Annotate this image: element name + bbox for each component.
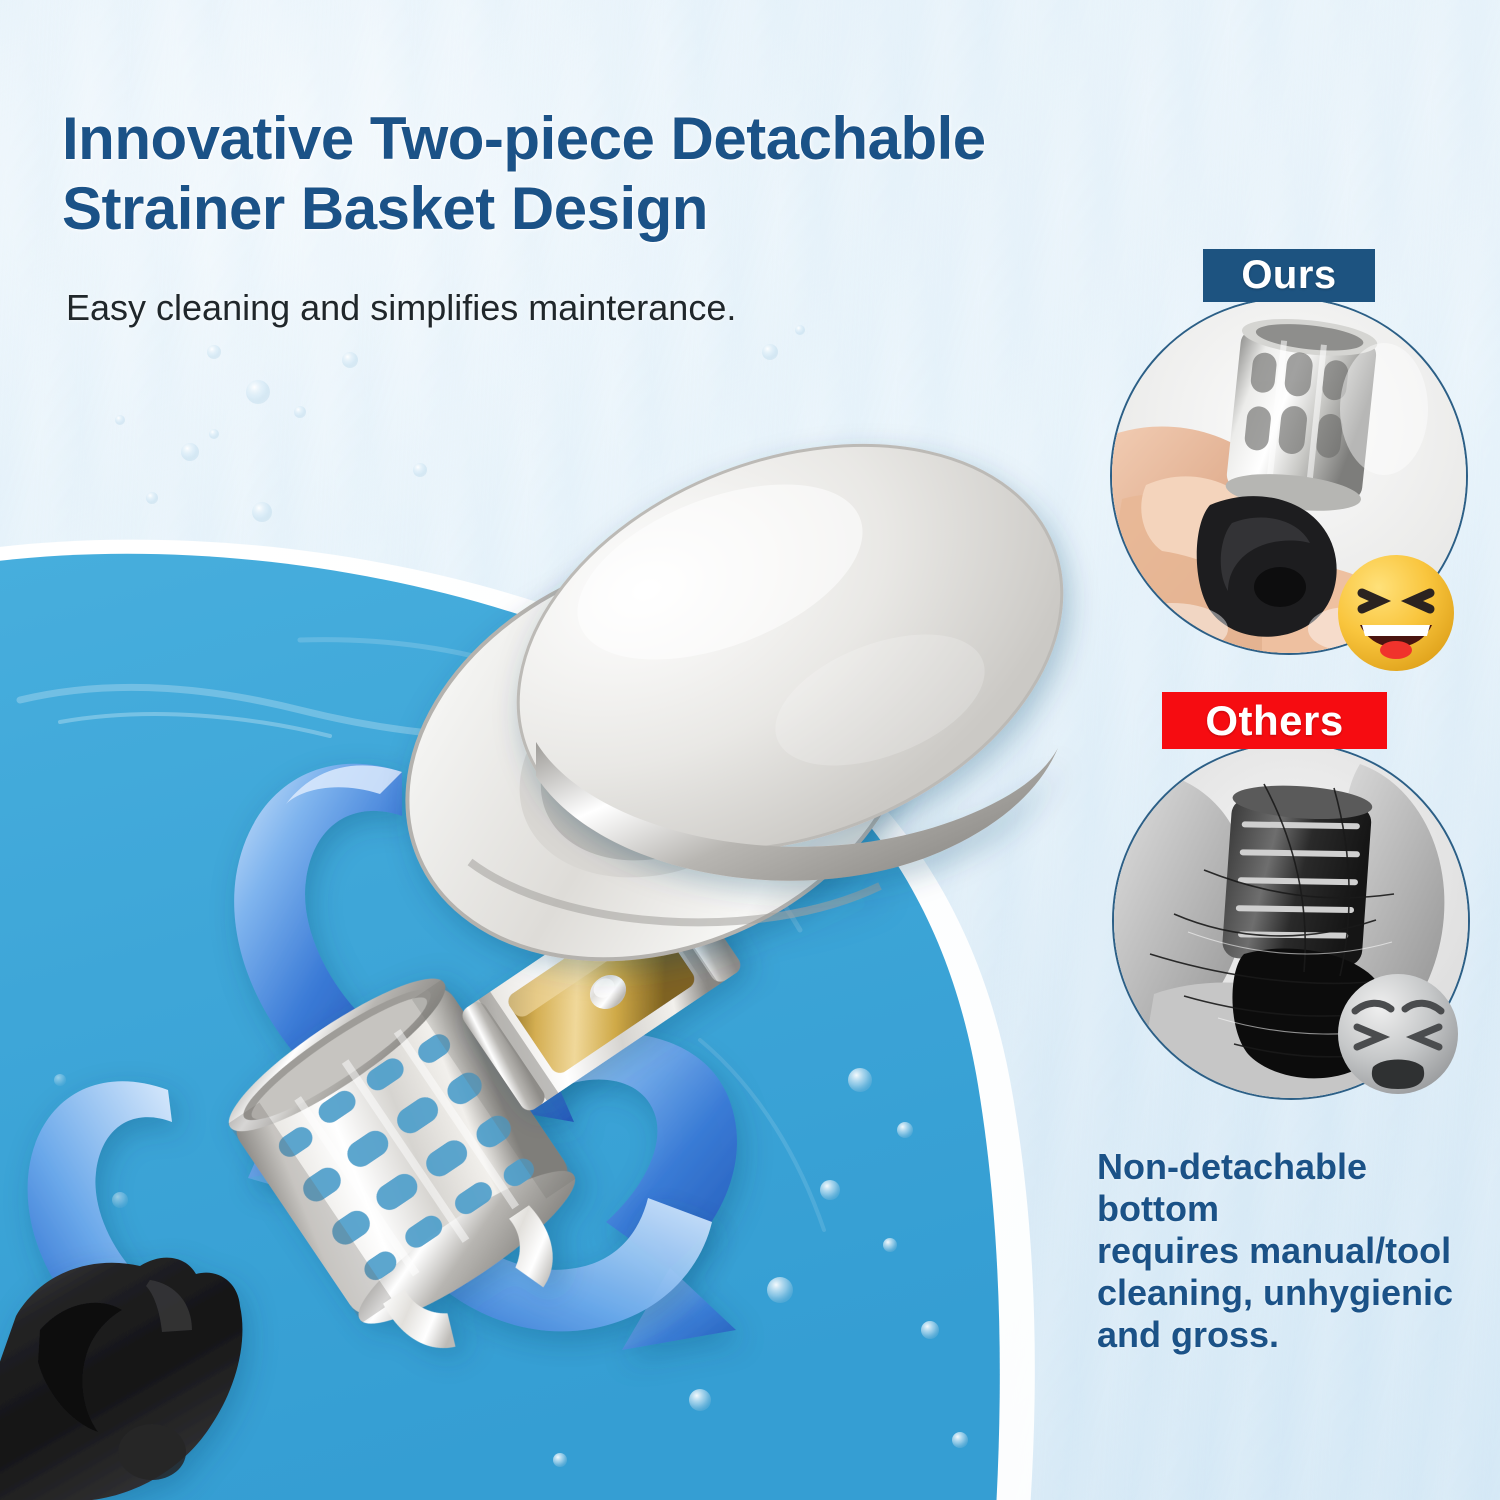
others-caption-line-3: cleaning, unhygienic	[1097, 1272, 1497, 1314]
black-rubber-bottom-cap	[0, 1258, 242, 1500]
ours-badge-label: Ours	[1241, 253, 1336, 298]
laughing-face-emoji	[1334, 551, 1458, 675]
others-badge-label: Others	[1205, 697, 1343, 745]
weary-face-emoji	[1333, 969, 1463, 1099]
others-caption: Non-detachable bottom requires manual/to…	[1097, 1146, 1497, 1357]
others-caption-line-4: and gross.	[1097, 1314, 1497, 1356]
others-caption-line-1: Non-detachable bottom	[1097, 1146, 1497, 1230]
others-caption-line-2: requires manual/tool	[1097, 1230, 1497, 1272]
ours-badge: Ours	[1203, 249, 1375, 302]
others-badge: Others	[1162, 692, 1387, 749]
infographic-canvas: Innovative Two-piece Detachable Strainer…	[0, 0, 1500, 1500]
